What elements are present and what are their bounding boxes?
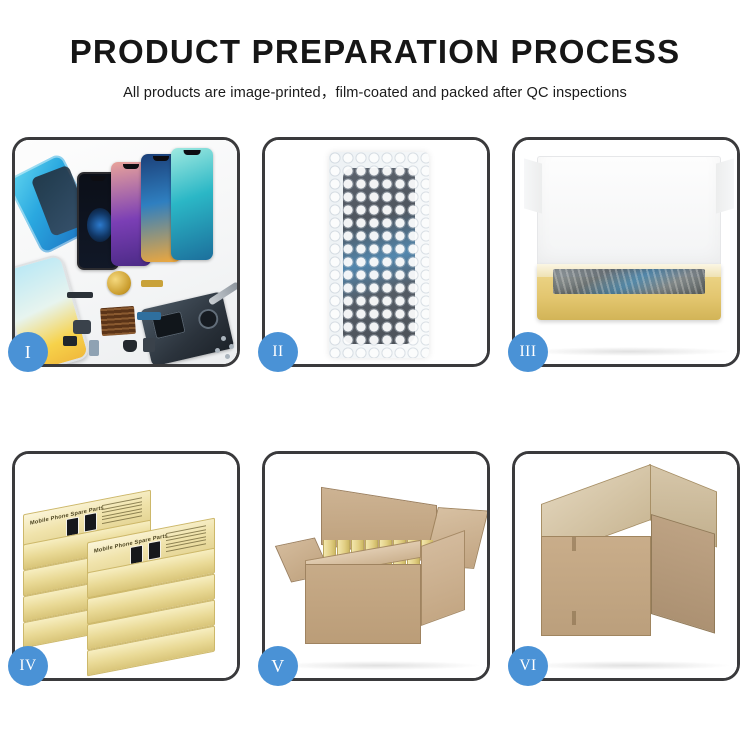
product-preparation-infographic: PRODUCT PREPARATION PROCESS All products… bbox=[0, 0, 750, 750]
carton-front-icon bbox=[305, 564, 421, 644]
phone-notch-icon bbox=[184, 150, 201, 155]
vibrator-icon bbox=[143, 338, 155, 352]
speaker-coil-icon bbox=[107, 271, 131, 295]
step-number-badge-2: II bbox=[258, 332, 298, 372]
step-image-2 bbox=[265, 140, 487, 364]
screw-icon bbox=[215, 348, 220, 353]
flex-cable-icon bbox=[137, 312, 161, 320]
step-image-4: Mobile Phone Spare Parts Mobil bbox=[15, 454, 237, 678]
step-image-6 bbox=[515, 454, 737, 678]
sim-tray-icon bbox=[89, 340, 99, 356]
step-number-badge-3: III bbox=[508, 332, 548, 372]
step-panel-4: Mobile Phone Spare Parts Mobil bbox=[12, 451, 240, 681]
sealed-carton-photo bbox=[515, 454, 737, 678]
step-number-badge-4: IV bbox=[8, 646, 48, 686]
process-steps-grid: I II bbox=[12, 137, 740, 685]
sealed-shipping-carton bbox=[539, 484, 719, 650]
bubble-bag bbox=[329, 152, 429, 358]
phone-icon bbox=[171, 148, 213, 260]
shipping-carton bbox=[291, 490, 467, 652]
bubble-wrap-photo bbox=[265, 140, 487, 364]
page-title: PRODUCT PREPARATION PROCESS bbox=[0, 34, 750, 70]
flex-cable-icon bbox=[67, 292, 93, 298]
carton-seam-icon bbox=[572, 537, 576, 551]
open-carton-photo bbox=[265, 454, 487, 678]
step-number-badge-5: V bbox=[258, 646, 298, 686]
step-number-badge-6: VI bbox=[508, 646, 548, 686]
step-panel-6: VI bbox=[512, 451, 740, 681]
speaker-icon bbox=[123, 340, 137, 352]
page-subtitle: All products are image-printed，film-coat… bbox=[0, 81, 750, 102]
phone-notch-icon bbox=[90, 176, 105, 181]
phone-notch-icon bbox=[153, 156, 169, 161]
step-panel-2: II bbox=[262, 137, 490, 367]
step-image-1 bbox=[15, 140, 237, 364]
chip-grid-icon bbox=[100, 306, 136, 336]
step-number-badge-1: I bbox=[8, 332, 48, 372]
phones-and-parts-photo bbox=[15, 140, 237, 364]
drop-shadow bbox=[529, 347, 729, 356]
camera-module-icon bbox=[73, 320, 91, 334]
drop-shadow bbox=[529, 661, 729, 670]
step-image-3 bbox=[515, 140, 737, 364]
connector-icon bbox=[63, 336, 77, 346]
step-panel-5: V bbox=[262, 451, 490, 681]
packed-item-icon bbox=[553, 269, 705, 294]
box-lid-icon bbox=[537, 156, 721, 276]
flex-cable-icon bbox=[141, 280, 163, 287]
carton-side-icon bbox=[421, 530, 465, 626]
step-panel-3: III bbox=[512, 137, 740, 367]
screw-icon bbox=[225, 354, 230, 359]
step-panel-1: I bbox=[12, 137, 240, 367]
carton-front-icon bbox=[541, 536, 651, 636]
box-tray-icon bbox=[537, 264, 721, 320]
logic-board-icon bbox=[140, 291, 235, 364]
inner-box-photo bbox=[515, 140, 737, 364]
step-image-5 bbox=[265, 454, 487, 678]
phone-fan-group bbox=[77, 150, 227, 275]
screw-icon bbox=[229, 344, 234, 349]
header: PRODUCT PREPARATION PROCESS All products… bbox=[0, 0, 750, 102]
phone-notch-icon bbox=[123, 164, 139, 169]
carton-side-icon bbox=[651, 514, 715, 634]
box-stack-photo: Mobile Phone Spare Parts Mobil bbox=[15, 454, 237, 678]
drop-shadow bbox=[279, 661, 479, 670]
carton-seam-icon bbox=[572, 611, 576, 625]
bubble-highlight-layer bbox=[329, 152, 429, 358]
screw-icon bbox=[221, 336, 226, 341]
